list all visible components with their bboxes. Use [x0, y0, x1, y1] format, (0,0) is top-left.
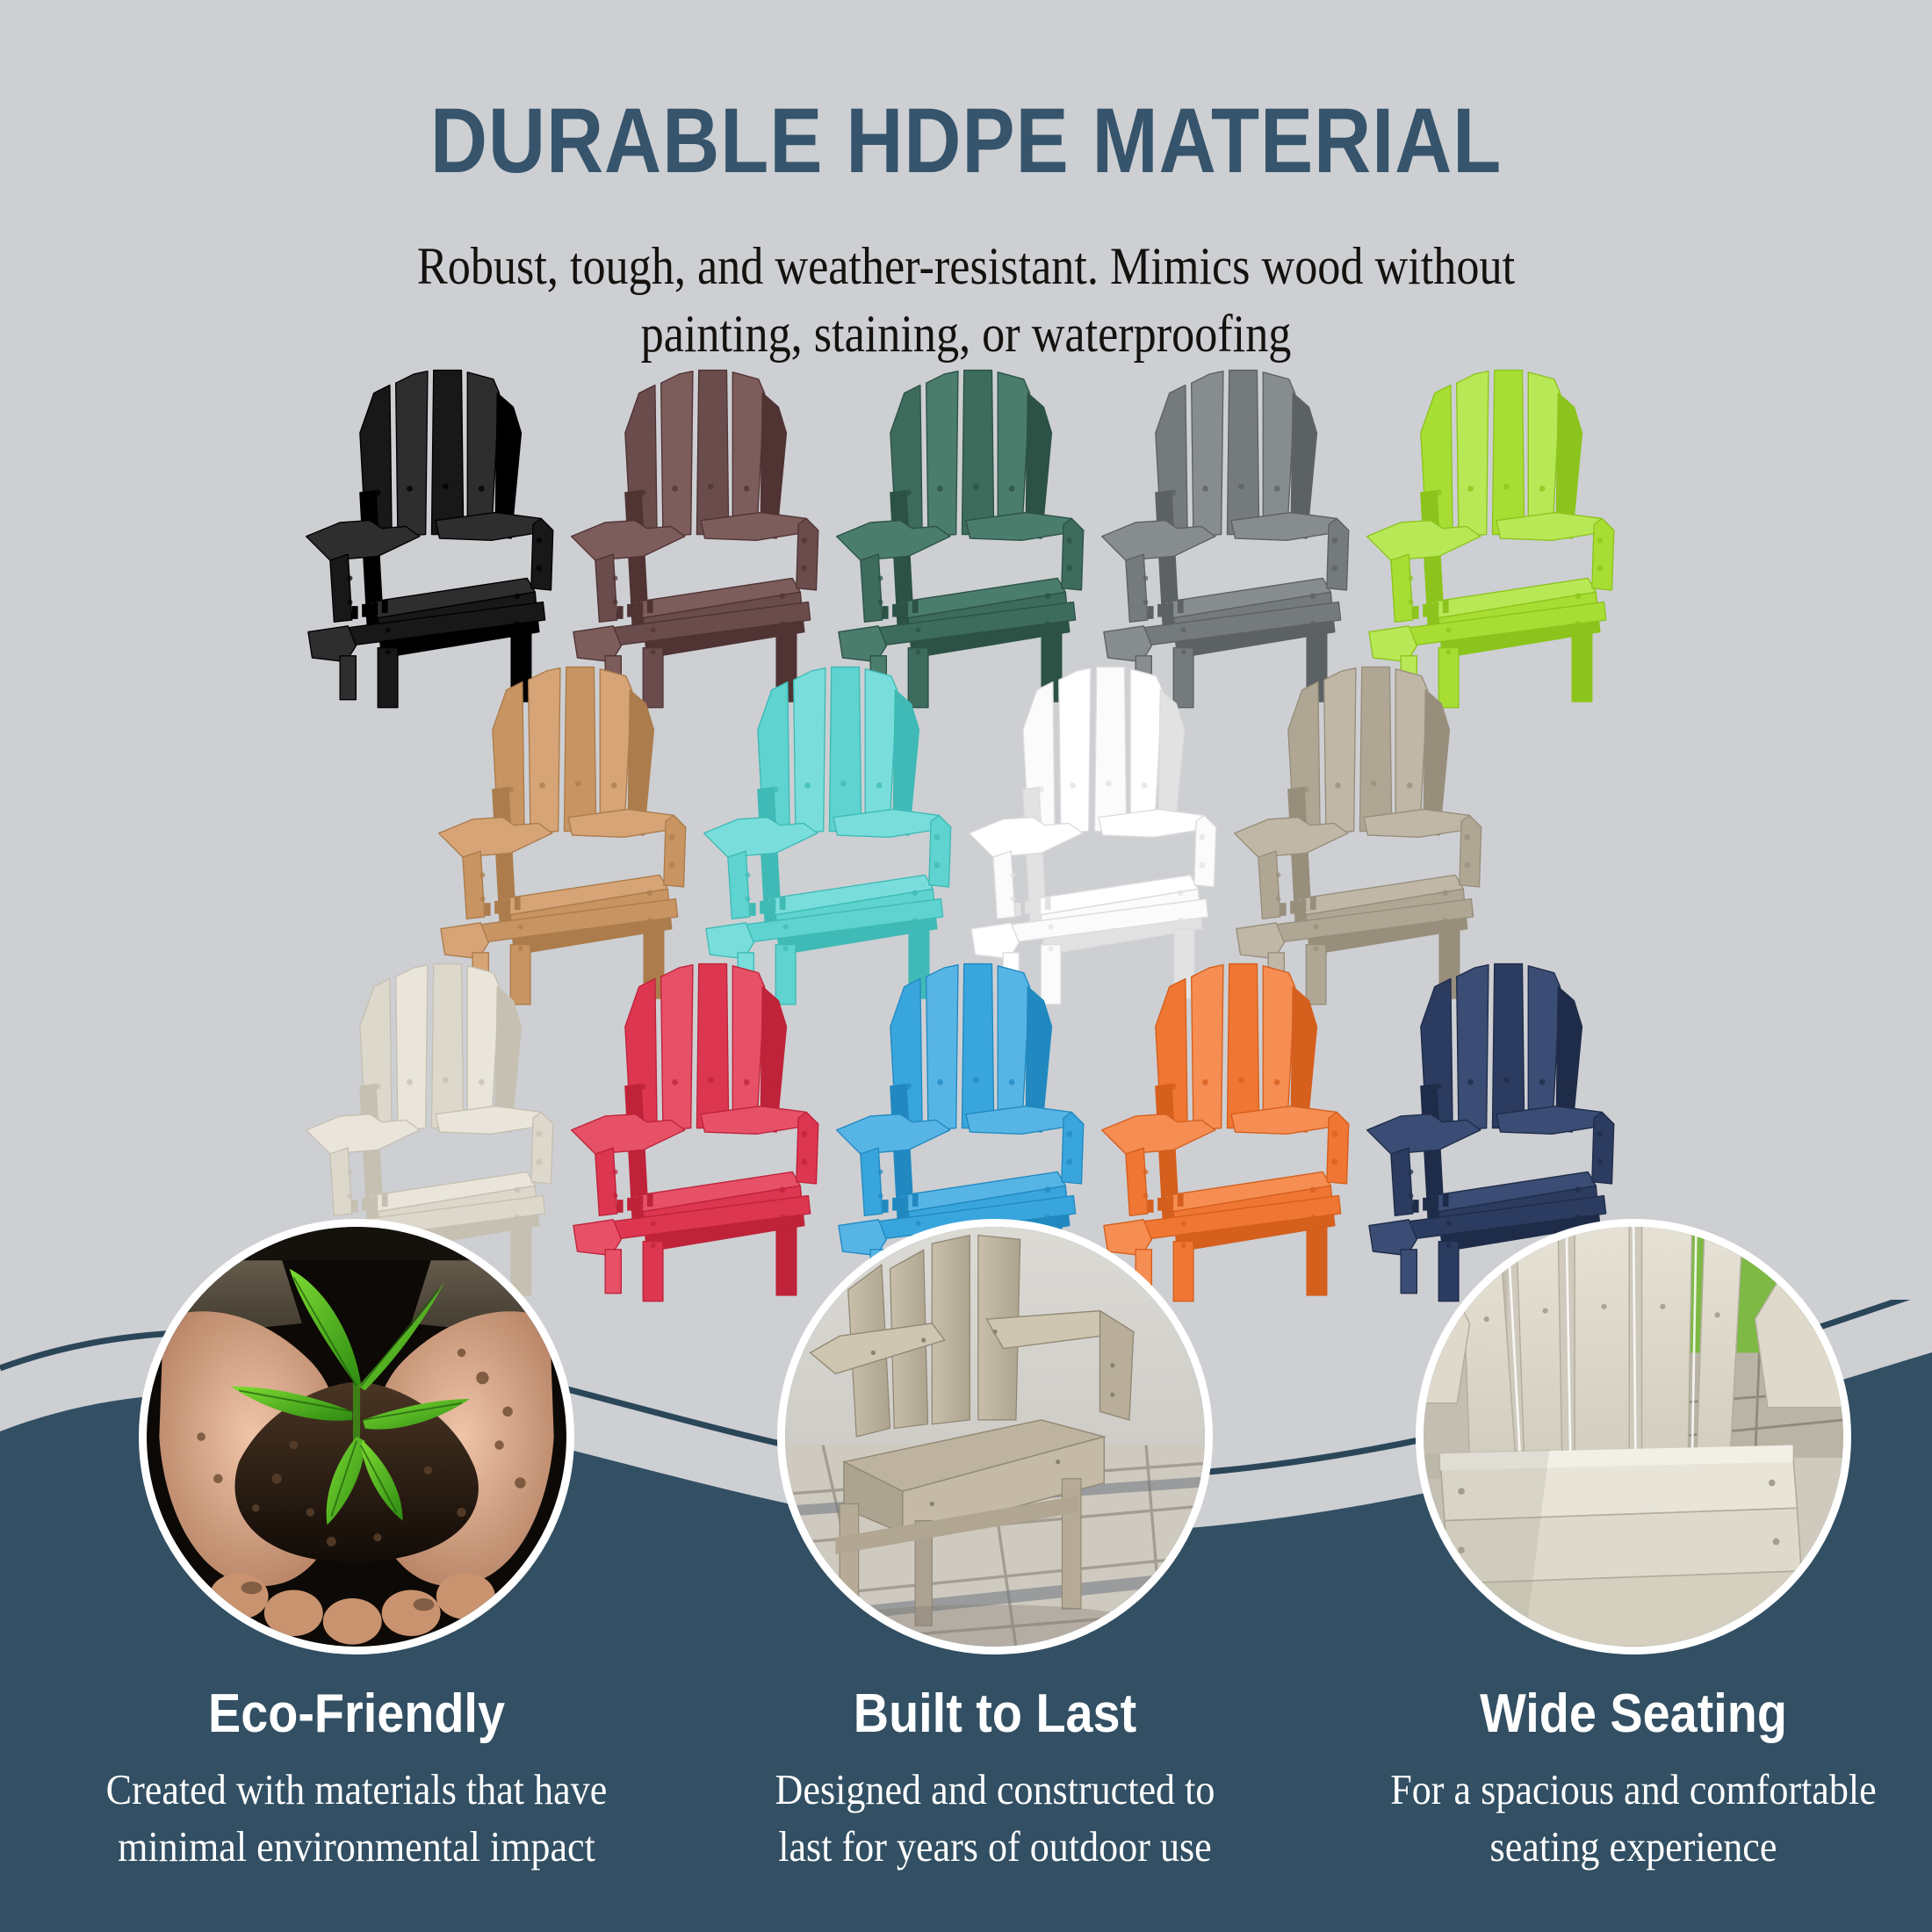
chair-swatch-orange[interactable] — [1082, 934, 1381, 1314]
chair-swatch-red[interactable] — [551, 934, 850, 1314]
eco-body-line-2: minimal environmental impact — [118, 1822, 595, 1871]
chair-svg — [551, 934, 850, 1314]
wide-seat-photo-inner — [1424, 1227, 1843, 1647]
chair-svg — [1082, 934, 1381, 1314]
patio-chair-photo-icon — [785, 1227, 1205, 1647]
feature-body-eco-friendly: Created with materials that have minimal… — [64, 1761, 649, 1875]
page-title: DURABLE HDPE MATERIAL — [135, 95, 1797, 187]
hands-holding-seedling-icon — [147, 1227, 566, 1647]
durability-photo-inner — [785, 1227, 1205, 1647]
eco-photo-inner — [147, 1227, 566, 1647]
feature-title-wide-seating: Wide Seating — [1357, 1683, 1910, 1745]
subtitle-line-1: Robust, tough, and weather-resistant. Mi… — [417, 237, 1515, 295]
feature-image-wide-seating — [1416, 1219, 1851, 1654]
eco-body-line-1: Created with materials that have — [106, 1765, 608, 1813]
feature-image-eco-friendly — [139, 1219, 574, 1654]
durability-body-line-1: Designed and constructed to — [775, 1765, 1215, 1813]
feature-body-built-to-last: Designed and constructed to last for yea… — [703, 1761, 1287, 1875]
durability-body-line-2: last for years of outdoor use — [778, 1822, 1212, 1871]
wide-seat-closeup-icon — [1424, 1227, 1843, 1647]
seating-body-line-1: For a spacious and comfortable — [1390, 1765, 1877, 1813]
infographic-canvas: DURABLE HDPE MATERIAL Robust, tough, and… — [0, 0, 1932, 1932]
feature-image-built-to-last — [777, 1219, 1213, 1654]
feature-title-built-to-last: Built to Last — [718, 1683, 1272, 1745]
seating-body-line-2: seating experience — [1490, 1822, 1777, 1871]
feature-body-wide-seating: For a spacious and comfortable seating e… — [1341, 1761, 1926, 1875]
feature-title-eco-friendly: Eco-Friendly — [80, 1683, 633, 1745]
